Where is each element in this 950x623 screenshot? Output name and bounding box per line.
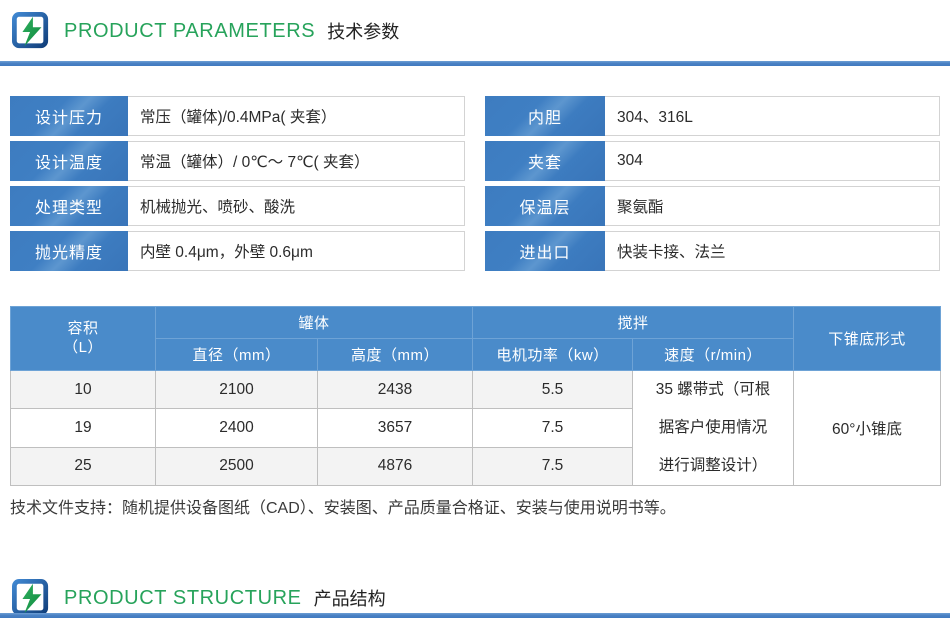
spec-row: 内胆 304、316L	[485, 96, 940, 136]
cell-diameter: 2100	[156, 371, 318, 409]
cell-diameter: 2500	[156, 447, 318, 485]
section-title-en: PRODUCT PARAMETERS	[64, 20, 315, 43]
cell-speed-note: 35 螺带式（可根 据客户使用情况 进行调整设计）	[633, 371, 794, 486]
th-tank-group: 罐体	[156, 307, 473, 339]
product-logo-icon	[12, 579, 50, 617]
spec-value: 聚氨酯	[605, 186, 940, 226]
spec-value: 304	[605, 141, 940, 181]
spec-tables: 设计压力 常压（罐体)/0.4MPa( 夹套） 设计温度 常温（罐体）/ 0℃～…	[10, 96, 940, 271]
spec-value: 内壁 0.4μm，外壁 0.6μm	[128, 231, 465, 271]
spec-label: 夹套	[485, 141, 605, 181]
spec-label: 内胆	[485, 96, 605, 136]
cell-height: 2438	[318, 371, 473, 409]
spec-row: 设计压力 常压（罐体)/0.4MPa( 夹套）	[10, 96, 465, 136]
spec-value: 快装卡接、法兰	[605, 231, 940, 271]
cell-height: 3657	[318, 409, 473, 447]
section-header-parameters: PRODUCT PARAMETERS 技术参数	[0, 0, 950, 62]
cell-power: 5.5	[473, 371, 633, 409]
speed-note-line1: 35 螺带式（可根	[637, 371, 789, 409]
spec-value: 常压（罐体)/0.4MPa( 夹套）	[128, 96, 465, 136]
spec-label: 进出口	[485, 231, 605, 271]
spec-label: 抛光精度	[10, 231, 128, 271]
footer-note: 技术文件支持：随机提供设备图纸（CAD）、安装图、产品质量合格证、安装与使用说明…	[10, 494, 940, 518]
cell-volume: 10	[11, 371, 156, 409]
cell-volume: 19	[11, 409, 156, 447]
cell-diameter: 2400	[156, 409, 318, 447]
cell-power: 7.5	[473, 447, 633, 485]
section-title-cn: 产品结构	[314, 585, 386, 611]
spec-table-right: 内胆 304、316L 夹套 304 保温层 聚氨酯 进出口 快装卡接、法兰	[485, 96, 940, 271]
spec-value: 机械抛光、喷砂、酸洗	[128, 186, 465, 226]
spec-label: 保温层	[485, 186, 605, 226]
table-header-row-1: 容积 （L） 罐体 搅拌 下锥底形式	[11, 307, 941, 339]
spec-label: 设计温度	[10, 141, 128, 181]
spec-label: 处理类型	[10, 186, 128, 226]
speed-note-line3: 进行调整设计）	[637, 447, 789, 485]
table-row: 10 2100 2438 5.5 35 螺带式（可根 据客户使用情况 进行调整设…	[11, 371, 941, 409]
section-title-en: PRODUCT STRUCTURE	[64, 587, 302, 610]
spec-label: 设计压力	[10, 96, 128, 136]
spec-row: 设计温度 常温（罐体）/ 0℃～ 7℃( 夹套）	[10, 141, 465, 181]
th-stir-power: 电机功率（kw）	[473, 339, 633, 371]
cell-height: 4876	[318, 447, 473, 485]
spec-row: 抛光精度 内壁 0.4μm，外壁 0.6μm	[10, 231, 465, 271]
th-stir-group: 搅拌	[473, 307, 794, 339]
spec-table-left: 设计压力 常压（罐体)/0.4MPa( 夹套） 设计温度 常温（罐体）/ 0℃～…	[10, 96, 465, 271]
cell-power: 7.5	[473, 409, 633, 447]
section-divider-top	[0, 61, 950, 66]
cell-volume: 25	[11, 447, 156, 485]
th-volume-line1: 容积	[11, 320, 155, 339]
capacity-data-table-wrap: 容积 （L） 罐体 搅拌 下锥底形式 直径（mm） 高度（mm） 电机功率（kw…	[10, 306, 940, 486]
spec-row: 保温层 聚氨酯	[485, 186, 940, 226]
spec-row: 处理类型 机械抛光、喷砂、酸洗	[10, 186, 465, 226]
th-volume: 容积 （L）	[11, 307, 156, 371]
spec-value: 常温（罐体）/ 0℃～ 7℃( 夹套）	[128, 141, 465, 181]
th-cone-bottom: 下锥底形式	[794, 307, 941, 371]
product-parameters-page: PRODUCT PARAMETERS 技术参数 设计压力 常压（罐体)/0.4M…	[0, 0, 950, 623]
spec-row: 夹套 304	[485, 141, 940, 181]
capacity-data-table: 容积 （L） 罐体 搅拌 下锥底形式 直径（mm） 高度（mm） 电机功率（kw…	[10, 306, 941, 486]
product-logo-icon	[12, 12, 50, 50]
th-stir-speed: 速度（r/min）	[633, 339, 794, 371]
th-tank-diameter: 直径（mm）	[156, 339, 318, 371]
th-volume-line2: （L）	[11, 339, 155, 358]
th-tank-height: 高度（mm）	[318, 339, 473, 371]
section-title-cn: 技术参数	[327, 18, 399, 44]
speed-note-line2: 据客户使用情况	[637, 409, 789, 447]
spec-row: 进出口 快装卡接、法兰	[485, 231, 940, 271]
section-divider-bottom	[0, 613, 950, 618]
spec-value: 304、316L	[605, 96, 940, 136]
cell-cone-bottom: 60°小锥底	[794, 371, 941, 486]
